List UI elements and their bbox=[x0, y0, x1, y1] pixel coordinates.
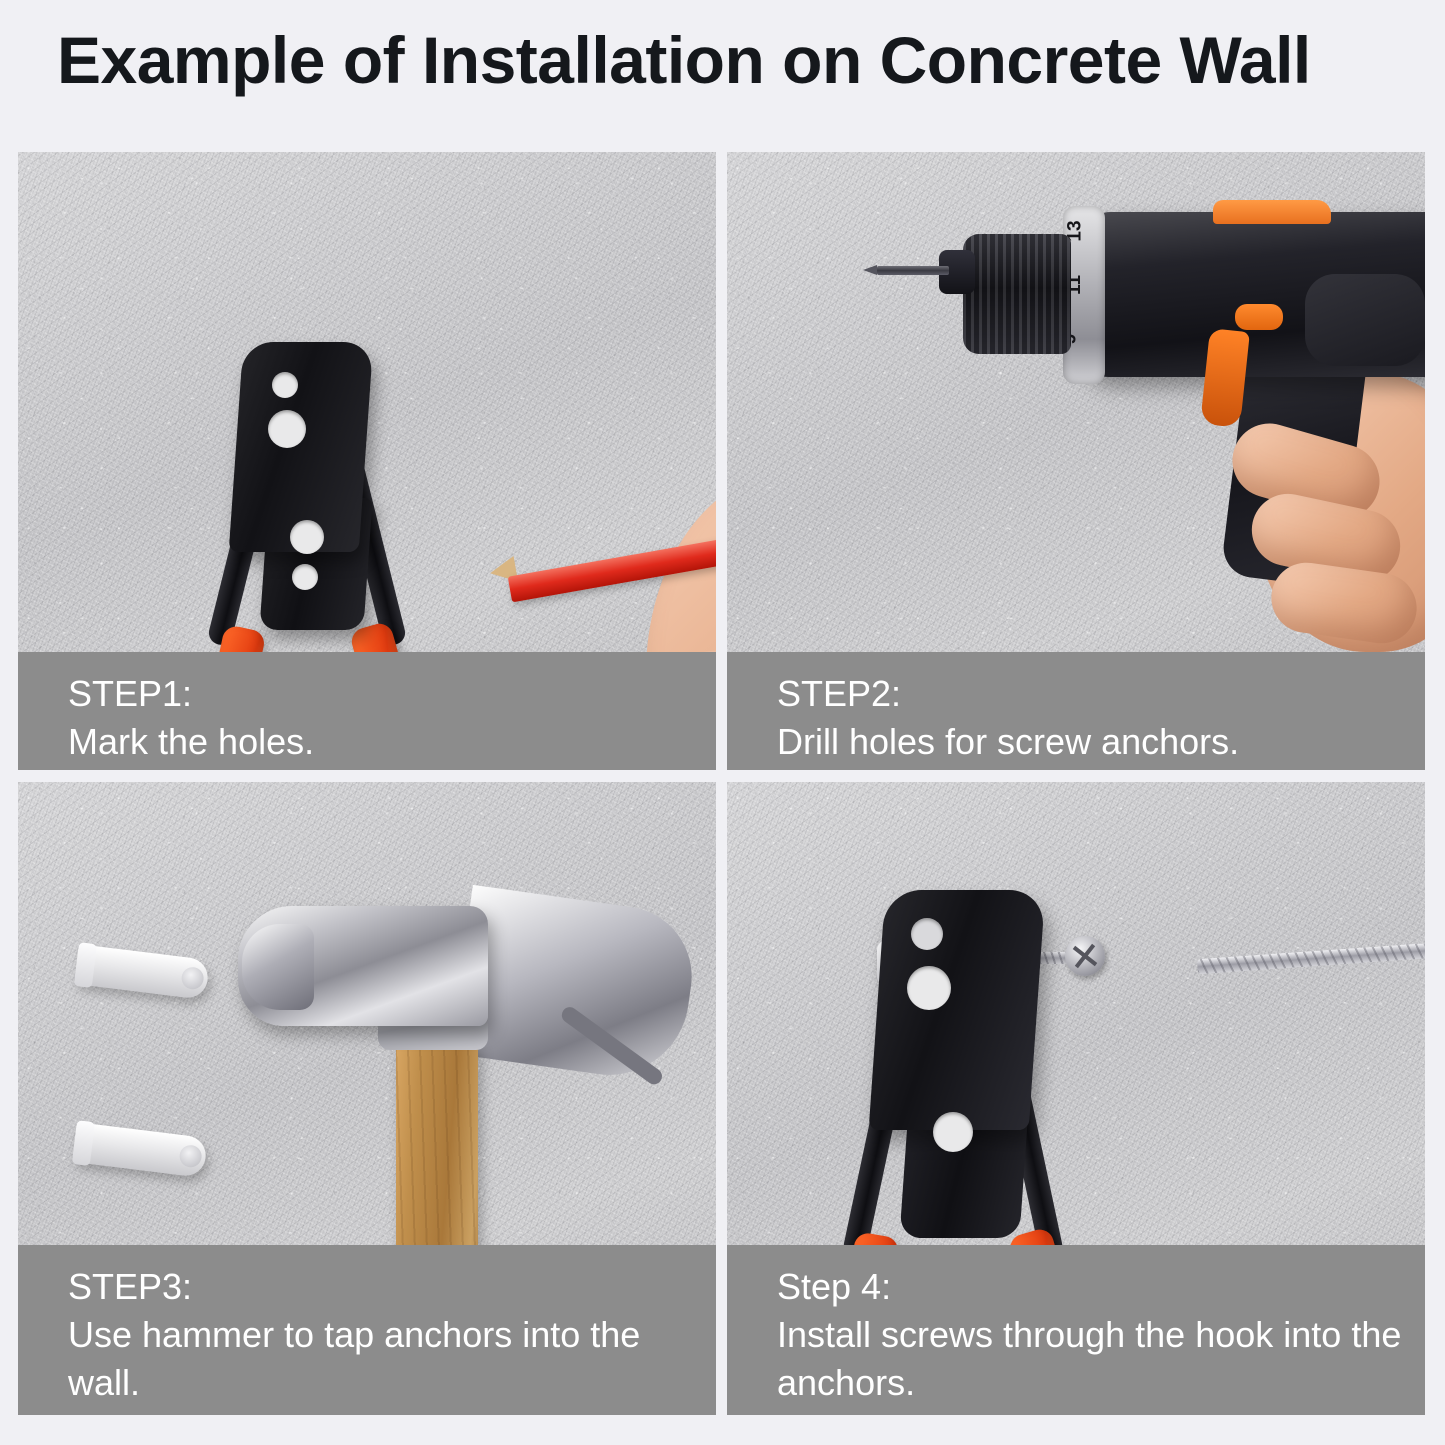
hook-plate-upper bbox=[869, 890, 1046, 1130]
mounting-hole bbox=[290, 520, 324, 554]
steps-grid: STEP1: Mark the holes. 13 11 9 bbox=[18, 152, 1425, 1415]
step-description-4: Install screws through the hook into the… bbox=[777, 1311, 1425, 1407]
step-description-3: Use hammer to tap anchors into the wall. bbox=[68, 1311, 716, 1407]
step-label-1: STEP1: bbox=[68, 670, 716, 718]
mounting-hole bbox=[933, 1112, 973, 1152]
step-panel-3: STEP3: Use hammer to tap anchors into th… bbox=[18, 782, 716, 1415]
drill-bit bbox=[877, 266, 949, 275]
step-caption-4: Step 4: Install screws through the hook … bbox=[727, 1245, 1425, 1415]
hammer-claw-slot bbox=[559, 1004, 665, 1087]
step-label-4: Step 4: bbox=[777, 1263, 1425, 1311]
step-caption-2: STEP2: Drill holes for screw anchors. bbox=[727, 652, 1425, 770]
mounting-hole bbox=[272, 372, 298, 398]
step-panel-1: STEP1: Mark the holes. bbox=[18, 152, 716, 770]
step-panel-2: 13 11 9 STEP2: Drill holes for screw anc… bbox=[727, 152, 1425, 770]
mounting-hole bbox=[907, 966, 951, 1010]
hammer-head bbox=[238, 906, 488, 1026]
step-panel-4: Step 4: Install screws through the hook … bbox=[727, 782, 1425, 1415]
step-label-2: STEP2: bbox=[777, 670, 1425, 718]
drill-body-panel bbox=[1305, 274, 1425, 366]
step-label-3: STEP3: bbox=[68, 1263, 716, 1311]
hammer-face bbox=[242, 924, 314, 1010]
mounting-hole bbox=[268, 410, 306, 448]
mounting-hole bbox=[292, 564, 318, 590]
step-caption-3: STEP3: Use hammer to tap anchors into th… bbox=[18, 1245, 716, 1415]
cordless-drill-illustration: 13 11 9 bbox=[935, 182, 1425, 602]
drill-body bbox=[1075, 212, 1425, 377]
screwdriver-shaft-texture bbox=[1197, 933, 1425, 974]
installation-guide-page: Example of Installation on Concrete Wall bbox=[0, 0, 1445, 1445]
mounting-hole-upper bbox=[911, 918, 943, 950]
screwdriver-illustration bbox=[1197, 918, 1425, 1038]
screw-head-upper bbox=[1065, 936, 1105, 976]
screwdriver-shaft bbox=[1197, 933, 1425, 974]
step-description-2: Drill holes for screw anchors. bbox=[777, 718, 1425, 766]
drill-direction-button bbox=[1235, 304, 1283, 330]
drill-chuck-ribs bbox=[963, 234, 1071, 354]
page-title: Example of Installation on Concrete Wall bbox=[57, 26, 1407, 95]
step-description-1: Mark the holes. bbox=[68, 718, 716, 766]
step-caption-1: STEP1: Mark the holes. bbox=[18, 652, 716, 770]
drill-chuck bbox=[963, 234, 1071, 354]
drill-top-accent bbox=[1213, 200, 1331, 224]
